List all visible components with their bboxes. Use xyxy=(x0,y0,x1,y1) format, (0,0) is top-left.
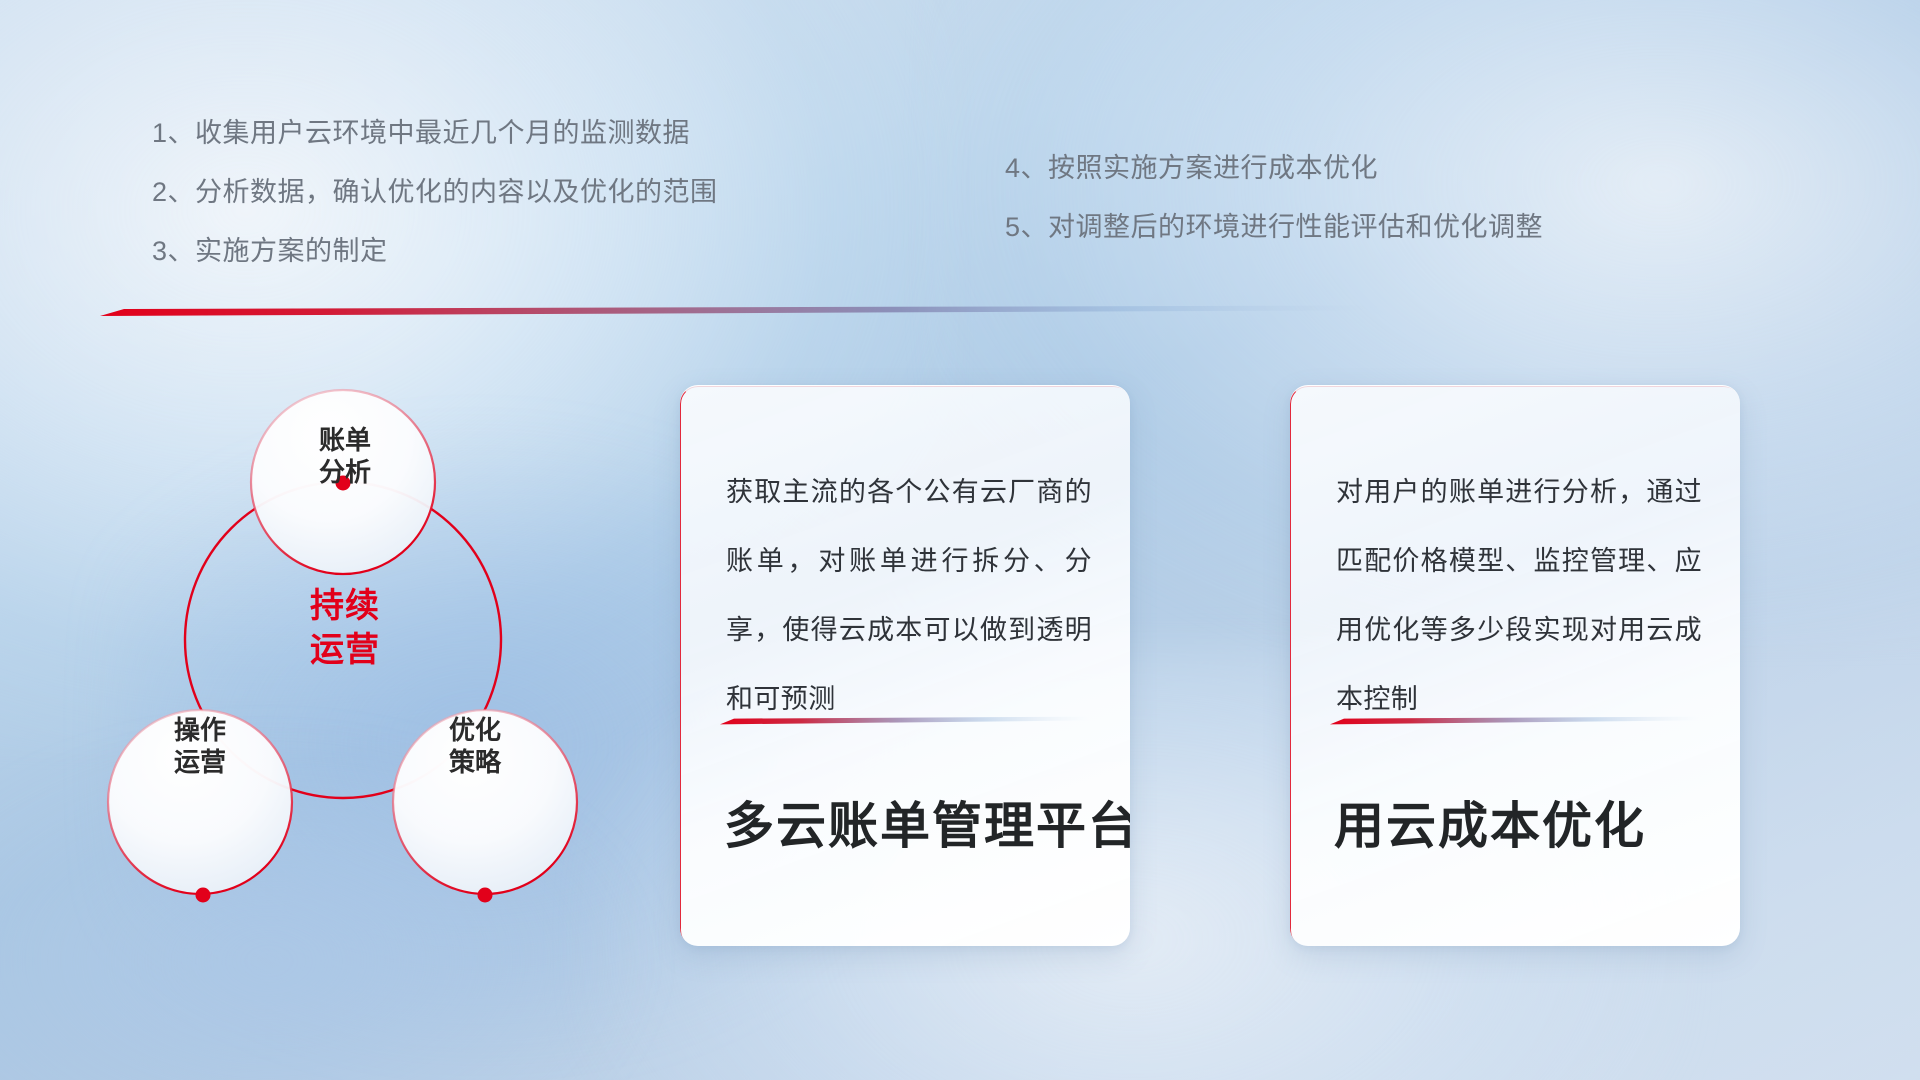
diagram-center-label: 持续 运营 xyxy=(255,585,435,672)
node-label-line-1: 操作 xyxy=(120,715,280,747)
node-label-line-2: 策略 xyxy=(395,747,555,779)
node-label-line-2: 运营 xyxy=(120,747,280,779)
card-body-text: 对用户的账单进行分析，通过匹配价格模型、监控管理、应用优化等多少段实现对用云成本… xyxy=(1336,458,1702,733)
diagram-label-layer: 账单 分析 操作 运营 优化 策略 持续 运营 xyxy=(95,350,655,930)
feature-card-cloud-cost-optimization[interactable]: 对用户的账单进行分析，通过匹配价格模型、监控管理、应用优化等多少段实现对用云成本… xyxy=(1290,385,1740,946)
bullet-item-5: 5、对调整后的环境进行性能评估和优化调整 xyxy=(1005,214,1543,241)
bullet-list-right: 4、按照实施方案进行成本优化 5、对调整后的环境进行性能评估和优化调整 xyxy=(1005,155,1543,241)
card-title: 多云账单管理平台 xyxy=(724,786,1106,858)
card-accent-rule xyxy=(1330,716,1700,725)
feature-card-multi-cloud-billing-platform[interactable]: 获取主流的各个公有云厂商的账单，对账单进行拆分、分享，使得云成本可以做到透明和可… xyxy=(680,385,1130,946)
section-divider xyxy=(100,305,1380,317)
card-title: 用云成本优化 xyxy=(1334,786,1716,858)
node-label-line-1: 优化 xyxy=(395,715,555,747)
card-body-text: 获取主流的各个公有云厂商的账单，对账单进行拆分、分享，使得云成本可以做到透明和可… xyxy=(726,458,1092,733)
bullet-item-3: 3、实施方案的制定 xyxy=(152,238,718,265)
center-label-line-1: 持续 xyxy=(255,585,435,629)
slide-canvas: 1、收集用户云环境中最近几个月的监测数据 2、分析数据，确认优化的内容以及优化的… xyxy=(0,0,1920,1080)
card-accent-rule xyxy=(720,716,1090,725)
bullet-item-4: 4、按照实施方案进行成本优化 xyxy=(1005,155,1543,182)
center-label-line-2: 运营 xyxy=(255,629,435,673)
node-label-operations: 操作 运营 xyxy=(120,715,280,778)
node-label-line-2: 分析 xyxy=(265,457,425,489)
node-label-billing-analysis: 账单 分析 xyxy=(265,425,425,488)
node-label-line-1: 账单 xyxy=(265,425,425,457)
bullet-item-2: 2、分析数据，确认优化的内容以及优化的范围 xyxy=(152,179,718,206)
bullet-list-left: 1、收集用户云环境中最近几个月的监测数据 2、分析数据，确认优化的内容以及优化的… xyxy=(152,120,718,265)
bullet-item-1: 1、收集用户云环境中最近几个月的监测数据 xyxy=(152,120,718,147)
node-label-optimization-policy: 优化 策略 xyxy=(395,715,555,778)
